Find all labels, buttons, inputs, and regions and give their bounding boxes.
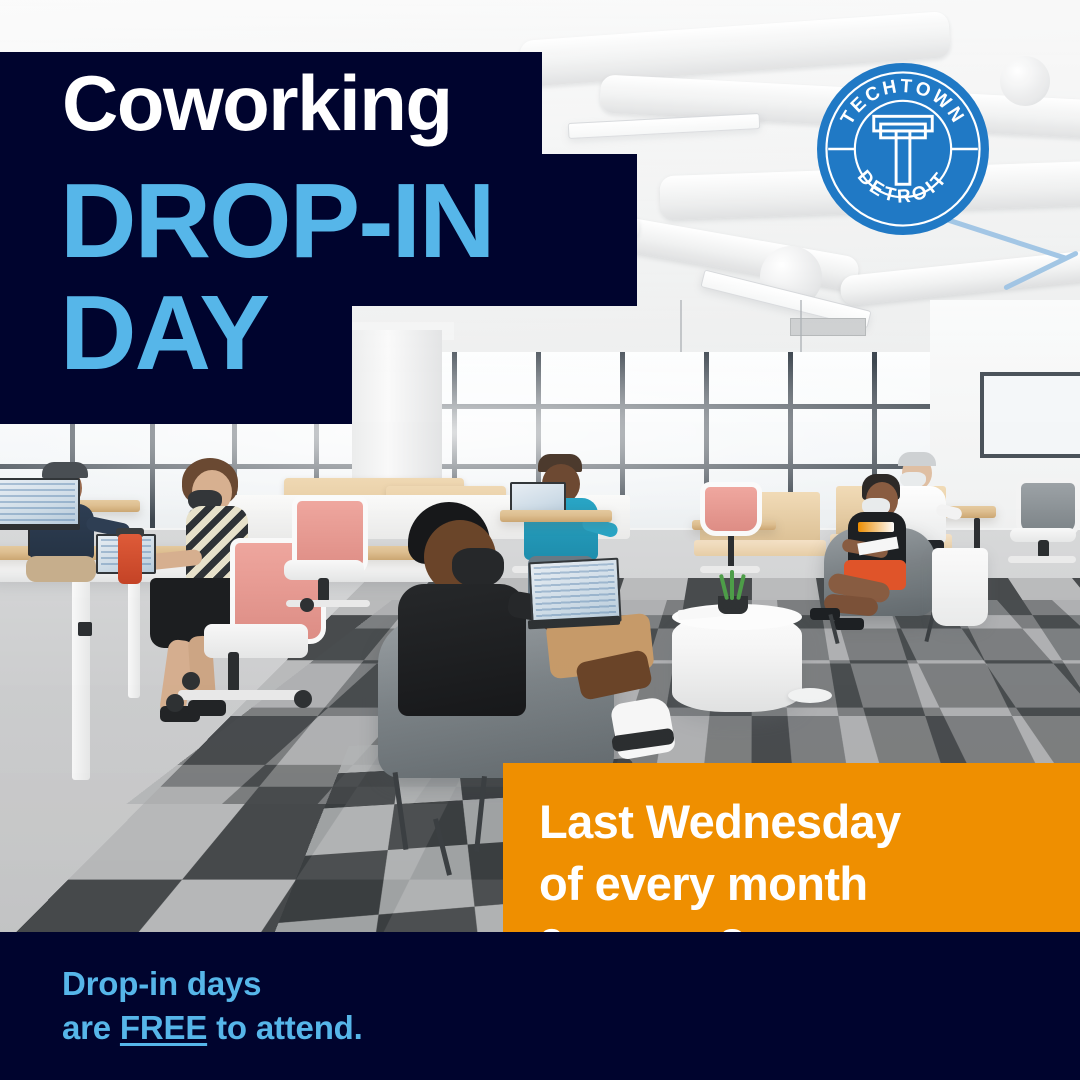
chair-post (318, 578, 329, 602)
task-chair-back (700, 482, 762, 536)
task-chair-seat (284, 560, 364, 580)
person-shoe (188, 700, 226, 716)
waste-bin (932, 548, 988, 626)
chair-base (1008, 556, 1076, 563)
person-leg (26, 556, 96, 582)
person-cap (42, 462, 88, 478)
face-mask (452, 548, 504, 588)
headline-line-2: DAY (60, 280, 268, 386)
bench-seat (694, 540, 826, 556)
footer-free-emphasis: FREE (120, 1009, 207, 1046)
footer-line-2-after: to attend. (207, 1009, 362, 1046)
chair-caster (166, 694, 184, 712)
person-torso (398, 584, 526, 716)
shirt-graphic (858, 522, 894, 532)
chair-post (228, 652, 239, 692)
plant-leaf (730, 570, 734, 600)
chair-base (286, 600, 370, 607)
laptop-content (534, 563, 617, 621)
laptop-content (0, 483, 75, 523)
desk-leg (128, 578, 140, 698)
right-window (980, 372, 1080, 458)
task-chair-seat (204, 624, 308, 658)
desk-grommet (78, 622, 92, 636)
poster-canvas: Coworking DROP-IN DAY TECHTOWN D (0, 0, 1080, 1080)
laptop-screen (0, 478, 80, 528)
schedule-line-2: of every month (539, 853, 1080, 915)
floor-disc (788, 688, 832, 703)
techtown-detroit-logo: TECHTOWN DETROIT (817, 63, 989, 235)
ceiling-duct (839, 247, 1080, 306)
schedule-line-1: Last Wednesday (539, 791, 1080, 853)
chair-caster (182, 672, 200, 690)
ceiling-light (568, 113, 761, 139)
headline-line-1: DROP-IN (60, 168, 494, 274)
chair-caster (294, 690, 312, 708)
desk-leg (72, 580, 90, 780)
desk-surface (500, 510, 612, 522)
ceiling-vent-round (1000, 56, 1050, 106)
headline-eyebrow: Coworking (62, 63, 452, 143)
laptop-base (0, 524, 80, 530)
footer-line-2-before: are (62, 1009, 120, 1046)
person-shoe (834, 618, 864, 630)
person-hair (898, 452, 936, 466)
tumbler (118, 534, 142, 584)
chair-caster (300, 598, 314, 612)
footer-note: Drop-in days are FREE to attend. (62, 962, 363, 1050)
chair-base (178, 690, 306, 700)
footer-line-2: are FREE to attend. (62, 1006, 363, 1050)
footer-line-1: Drop-in days (62, 962, 363, 1006)
